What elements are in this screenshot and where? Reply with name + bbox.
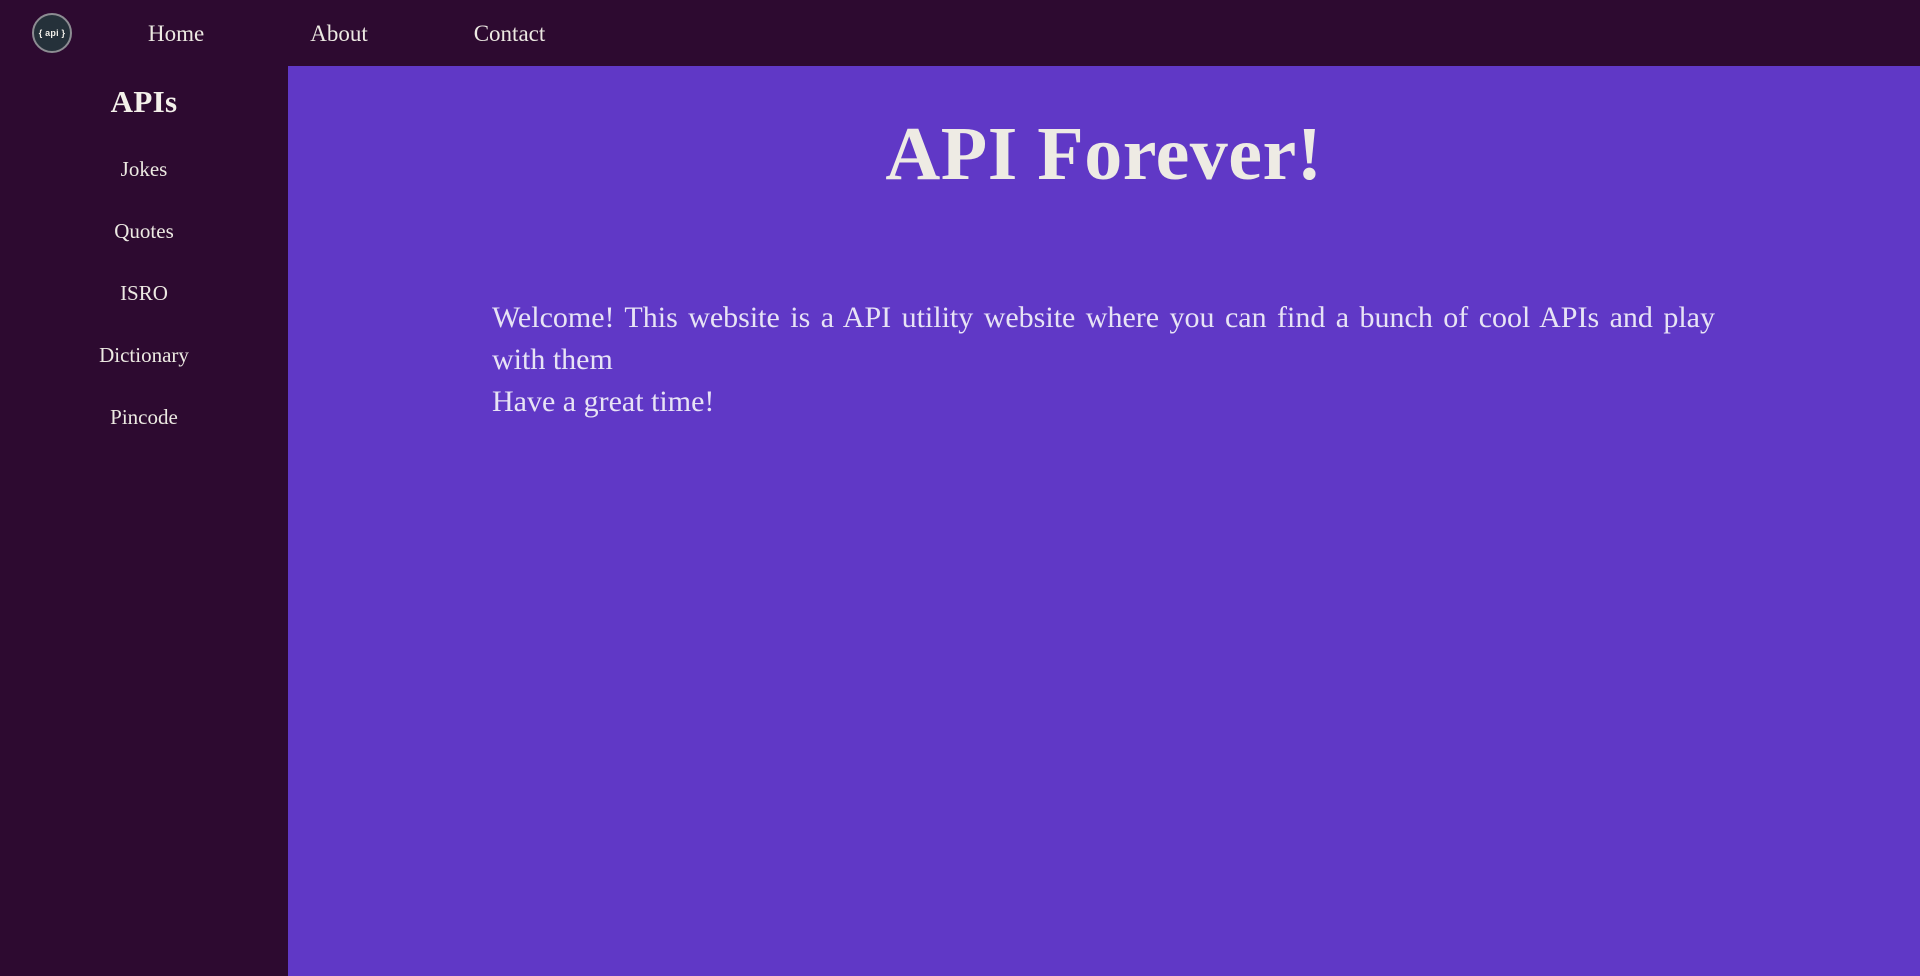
nav-link-about[interactable]: About (308, 18, 370, 49)
intro-greeting-text: Have a great time! (492, 381, 1715, 423)
main-content: API Forever! Welcome! This website is a … (288, 66, 1920, 976)
sidebar-item-pincode[interactable]: Pincode (0, 407, 288, 428)
intro-paragraph-welcome: Welcome! This website is a API utility w… (492, 297, 1715, 381)
api-logo-icon[interactable]: { api } (32, 13, 72, 53)
sidebar-item-isro[interactable]: ISRO (0, 283, 288, 304)
logo-text: { api } (39, 29, 65, 38)
sidebar: APIs Jokes Quotes ISRO Dictionary Pincod… (0, 66, 288, 976)
page-title: API Forever! (288, 116, 1920, 192)
intro-paragraph-greeting: Have a great time! (492, 381, 1715, 423)
sidebar-title: APIs (0, 86, 288, 117)
top-navbar: { api } Home About Contact (0, 0, 1920, 66)
sidebar-item-dictionary[interactable]: Dictionary (0, 345, 288, 366)
sidebar-item-quotes[interactable]: Quotes (0, 221, 288, 242)
nav-links: Home About Contact (146, 18, 649, 49)
sidebar-item-jokes[interactable]: Jokes (0, 159, 288, 180)
nav-link-contact[interactable]: Contact (472, 18, 548, 49)
intro-block: Welcome! This website is a API utility w… (492, 297, 1715, 423)
nav-link-home[interactable]: Home (146, 18, 206, 49)
